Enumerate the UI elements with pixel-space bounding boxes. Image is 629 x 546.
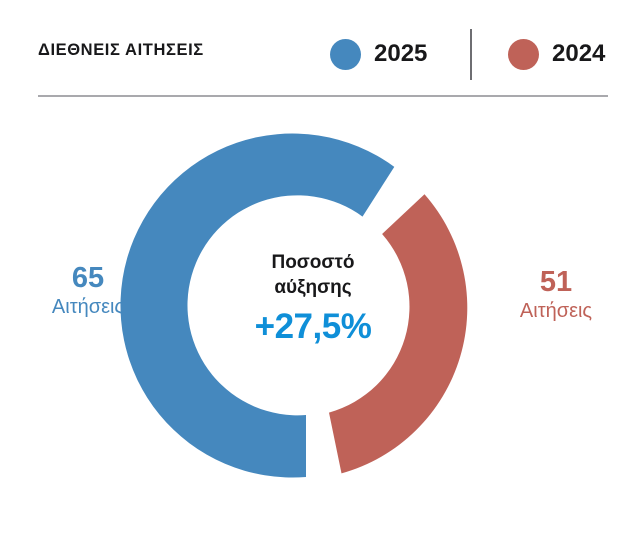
- chart-legend: 2025 2024: [330, 28, 610, 80]
- legend-label-2025: 2025: [374, 40, 427, 68]
- value-2024: 51: [490, 266, 622, 298]
- growth-percentage-value: +27,5%: [213, 307, 413, 347]
- unit-label-2024: Αιτήσεις: [490, 298, 622, 324]
- label-group-2024: 51 Αιτήσεις: [490, 266, 622, 324]
- legend-item-2024[interactable]: 2024: [508, 38, 605, 70]
- legend-label-2024: 2024: [552, 40, 605, 68]
- unit-label-2025: Αιτήσεις: [22, 294, 154, 320]
- infographic-root: ΔΙΕΘΝΕΙΣ ΑΙΤΗΣΕΙΣ 2025 2024 Ποσοστό αύξη…: [0, 0, 629, 546]
- label-group-2025: 65 Αιτήσεις: [22, 262, 154, 320]
- page-title: ΔΙΕΘΝΕΙΣ ΑΙΤΗΣΕΙΣ: [38, 41, 204, 60]
- center-caption-line-2: αύξησης: [213, 275, 413, 300]
- legend-item-2025[interactable]: 2025: [330, 38, 427, 70]
- legend-swatch-circle-icon: [330, 39, 361, 70]
- center-caption-line-1: Ποσοστό: [213, 250, 413, 275]
- header-divider-rule: [38, 95, 608, 97]
- legend-divider: [470, 29, 472, 80]
- chart-header: ΔΙΕΘΝΕΙΣ ΑΙΤΗΣΕΙΣ 2025 2024: [0, 0, 629, 97]
- legend-swatch-circle-icon: [508, 39, 539, 70]
- donut-center-annotation: Ποσοστό αύξησης +27,5%: [213, 250, 413, 347]
- value-2025: 65: [22, 262, 154, 294]
